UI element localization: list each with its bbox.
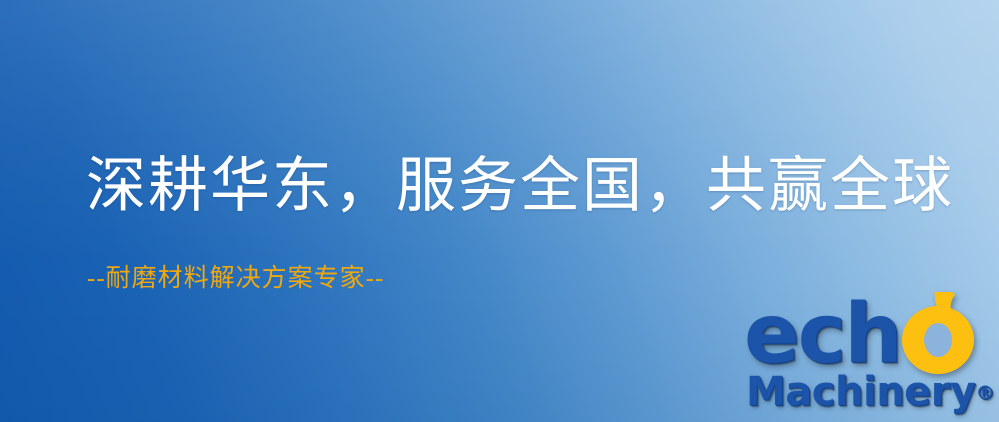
company-logo[interactable]: ech Machinery® (744, 296, 996, 422)
logo-text-machinery: Machinery® (746, 370, 995, 415)
logo-o-with-echo-waves (894, 292, 996, 378)
logo-text-ech: ech (744, 296, 901, 374)
logo-wordmark: ech (744, 296, 901, 374)
banner-subtitle: --耐磨材料解决方案专家-- (87, 266, 384, 291)
banner-headline: 深耕华东，服务全国，共赢全球 (86, 156, 954, 216)
hero-banner: 深耕华东，服务全国，共赢全球 --耐磨材料解决方案专家-- ech Machin… (0, 0, 999, 422)
registered-trademark-icon: ® (976, 382, 995, 404)
logo-machinery-word: Machinery (746, 369, 976, 415)
echo-wave-icon (894, 292, 996, 378)
